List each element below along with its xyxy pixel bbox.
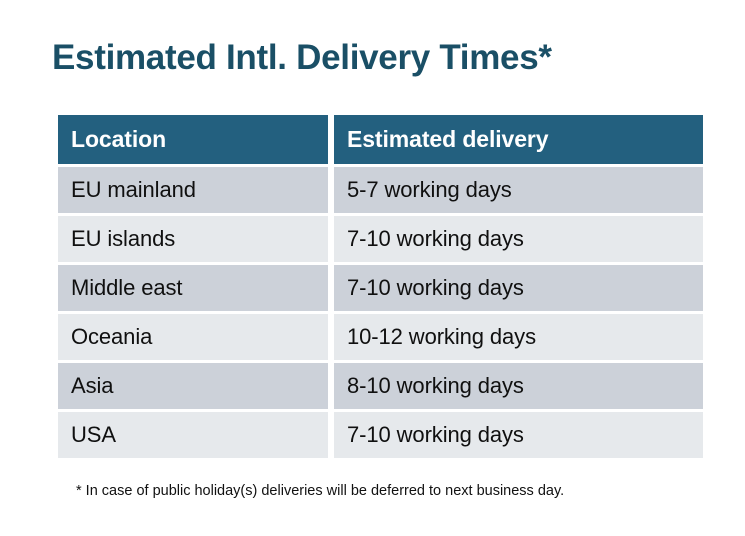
cell-location: Oceania [58,314,328,360]
cell-estimated-delivery: 5-7 working days [334,167,703,213]
table-header: Location Estimated delivery [58,115,703,164]
table-row: Middle east 7-10 working days [58,265,703,311]
estimated-delivery-table: Location Estimated delivery EU mainland … [52,112,709,461]
cell-estimated-delivery: 7-10 working days [334,216,703,262]
table-row: Asia 8-10 working days [58,363,703,409]
table-row: EU islands 7-10 working days [58,216,703,262]
table-row: EU mainland 5-7 working days [58,167,703,213]
page-title: Estimated Intl. Delivery Times* [52,36,552,80]
cell-location: Asia [58,363,328,409]
table-footnote: * In case of public holiday(s) deliverie… [76,481,564,501]
cell-location: EU islands [58,216,328,262]
cell-location: Middle east [58,265,328,311]
cell-location: USA [58,412,328,458]
column-header-estimated-delivery: Estimated delivery [334,115,703,164]
table-body: EU mainland 5-7 working days EU islands … [58,167,703,458]
column-header-location: Location [58,115,328,164]
delivery-times-page: Estimated Intl. Delivery Times* Location… [0,0,745,536]
table-row: Oceania 10-12 working days [58,314,703,360]
cell-estimated-delivery: 7-10 working days [334,412,703,458]
table-row: USA 7-10 working days [58,412,703,458]
cell-estimated-delivery: 7-10 working days [334,265,703,311]
cell-location: EU mainland [58,167,328,213]
cell-estimated-delivery: 10-12 working days [334,314,703,360]
table-header-row: Location Estimated delivery [58,115,703,164]
cell-estimated-delivery: 8-10 working days [334,363,703,409]
